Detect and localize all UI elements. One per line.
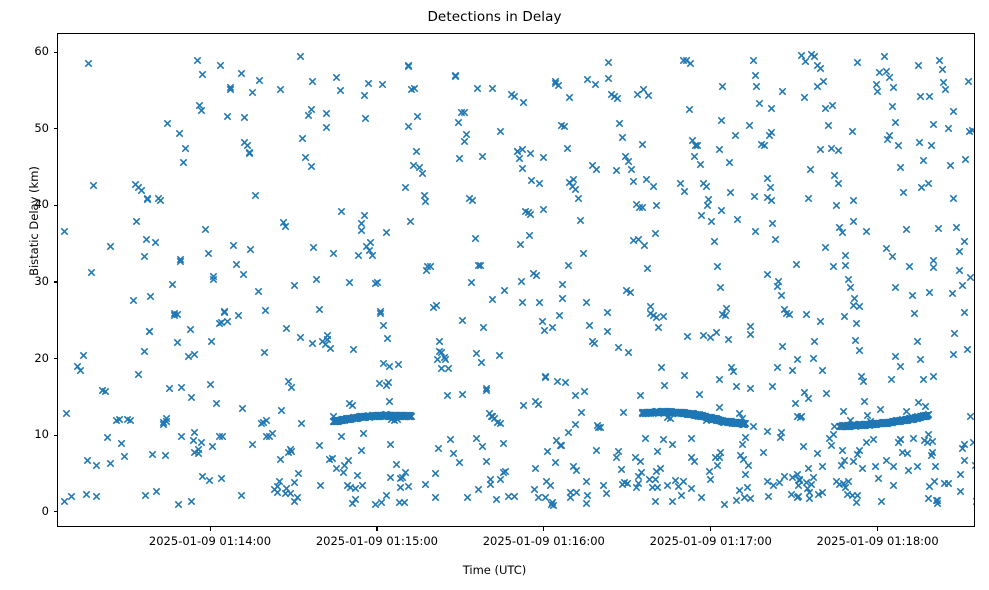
scatter-marker-x	[613, 94, 622, 103]
scatter-marker-x	[969, 438, 975, 447]
scatter-marker-x	[644, 91, 653, 100]
scatter-marker-x	[768, 219, 777, 228]
scatter-marker-x	[187, 393, 196, 402]
scatter-marker-x	[603, 308, 612, 317]
scatter-marker-x	[218, 432, 227, 441]
scatter-marker-x	[366, 238, 375, 247]
scatter-marker-x	[385, 362, 394, 371]
chart-title: Detections in Delay	[0, 9, 989, 25]
scatter-marker-x	[965, 127, 974, 136]
scatter-marker-x	[776, 433, 785, 442]
scatter-marker-x	[435, 337, 444, 346]
scatter-marker-x	[198, 70, 207, 79]
track-marker-x	[741, 419, 750, 428]
x-tick-mark	[877, 527, 878, 531]
scatter-marker-x	[686, 59, 695, 68]
scatter-marker-x	[441, 355, 450, 364]
scatter-marker-x	[713, 461, 722, 470]
scatter-marker-x	[564, 428, 573, 437]
scatter-marker-x	[685, 105, 694, 114]
scatter-marker-x	[500, 286, 509, 295]
scatter-marker-x	[793, 493, 802, 502]
scatter-marker-x	[816, 145, 825, 154]
scatter-marker-x	[307, 105, 316, 114]
scatter-marker-x	[217, 318, 226, 327]
scatter-marker-x	[574, 194, 583, 203]
scatter-marker-x	[577, 408, 586, 417]
scatter-marker-x	[460, 137, 469, 146]
scatter-marker-x	[290, 478, 299, 487]
scatter-marker-x	[683, 332, 692, 341]
scatter-marker-x	[929, 372, 938, 381]
scatter-marker-x	[603, 327, 612, 336]
scatter-marker-x	[106, 459, 115, 468]
scatter-marker-x	[913, 462, 922, 471]
scatter-marker-x	[846, 283, 855, 292]
scatter-marker-x	[357, 446, 366, 455]
scatter-marker-x	[891, 352, 900, 361]
scatter-marker-x	[885, 131, 894, 140]
scatter-marker-x	[79, 351, 88, 360]
scatter-marker-x	[535, 298, 544, 307]
scatter-marker-x	[472, 434, 481, 443]
scatter-marker-x	[240, 113, 249, 122]
scatter-marker-x	[914, 61, 923, 70]
scatter-marker-x	[697, 211, 706, 220]
scatter-marker-x	[555, 311, 564, 320]
scatter-marker-x	[777, 291, 786, 300]
scatter-marker-x	[312, 275, 321, 284]
scatter-marker-x	[804, 194, 813, 203]
scatter-marker-x	[297, 419, 306, 428]
scatter-marker-x	[887, 375, 896, 384]
scatter-marker-x	[888, 102, 897, 111]
scatter-marker-x	[810, 337, 819, 346]
scatter-marker-x	[294, 469, 303, 478]
scatter-marker-x	[751, 71, 760, 80]
scatter-marker-x	[949, 350, 958, 359]
scatter-marker-x	[496, 475, 505, 484]
scatter-marker-x	[741, 470, 750, 479]
scatter-marker-x	[929, 263, 938, 272]
scatter-marker-x	[325, 455, 334, 464]
scatter-marker-x	[510, 492, 519, 501]
scatter-marker-x	[604, 58, 613, 67]
scatter-marker-x	[785, 310, 794, 319]
scatter-marker-x	[208, 442, 217, 451]
scatter-marker-x	[223, 112, 232, 121]
scatter-marker-x	[308, 77, 317, 86]
scatter-marker-x	[248, 88, 257, 97]
scatter-marker-x	[809, 354, 818, 363]
scatter-marker-x	[558, 280, 567, 289]
scatter-marker-x	[832, 201, 841, 210]
scatter-marker-x	[406, 217, 415, 226]
scatter-marker-x	[168, 280, 177, 289]
scatter-marker-x	[749, 422, 758, 431]
scatter-marker-x	[443, 391, 452, 400]
y-tick-mark	[54, 511, 58, 512]
scatter-marker-x	[828, 101, 837, 110]
scatter-marker-x	[197, 106, 206, 115]
scatter-marker-x	[759, 448, 768, 457]
scatter-marker-x	[392, 460, 401, 469]
scatter-marker-x	[821, 243, 830, 252]
scatter-marker-x	[198, 472, 207, 481]
scatter-marker-x	[143, 195, 152, 204]
scatter-marker-x	[952, 223, 961, 232]
scatter-marker-x	[925, 288, 934, 297]
scatter-marker-x	[690, 457, 699, 466]
scatter-marker-x	[60, 497, 69, 506]
scatter-marker-x	[871, 462, 880, 471]
scatter-marker-x	[101, 387, 110, 396]
y-tick-label: 60	[3, 46, 49, 58]
scatter-marker-x	[226, 85, 235, 94]
scatter-marker-x	[899, 188, 908, 197]
scatter-marker-x	[849, 217, 858, 226]
scatter-marker-x	[713, 262, 722, 271]
scatter-marker-x	[660, 381, 669, 390]
scatter-marker-x	[818, 366, 827, 375]
scatter-marker-x	[582, 499, 591, 508]
scatter-marker-x	[908, 291, 917, 300]
scatter-marker-x	[386, 440, 395, 449]
scatter-marker-x	[563, 144, 572, 153]
scatter-marker-x	[197, 438, 206, 447]
scatter-marker-x	[849, 196, 858, 205]
scatter-marker-x	[829, 262, 838, 271]
scatter-marker-x	[560, 122, 569, 131]
scatter-marker-x	[482, 384, 491, 393]
scatter-marker-x	[629, 236, 638, 245]
scatter-marker-x	[876, 405, 885, 414]
scatter-marker-x	[680, 371, 689, 380]
scatter-marker-x	[165, 384, 174, 393]
track-marker-x	[407, 412, 416, 421]
scatter-marker-x	[718, 82, 727, 91]
scatter-marker-x	[765, 131, 774, 140]
scatter-marker-x	[463, 493, 472, 502]
scatter-marker-x	[492, 495, 501, 504]
scatter-marker-x	[401, 183, 410, 192]
scatter-marker-x	[964, 77, 973, 86]
scatter-marker-x	[715, 375, 724, 384]
scatter-marker-x	[706, 475, 715, 484]
scatter-marker-x	[872, 80, 881, 89]
scatter-marker-x	[735, 486, 744, 495]
scatter-marker-x	[478, 152, 487, 161]
scatter-marker-x	[177, 383, 186, 392]
scatter-marker-x	[838, 446, 847, 455]
scatter-marker-x	[614, 343, 623, 352]
scatter-marker-x	[254, 287, 263, 296]
scatter-marker-x	[146, 292, 155, 301]
scatter-marker-x	[92, 492, 101, 501]
x-tick-label: 2025-01-09 01:18:00	[778, 535, 978, 547]
y-tick-mark	[54, 128, 58, 129]
scatter-marker-x	[929, 120, 938, 129]
scatter-marker-x	[409, 161, 418, 170]
scatter-marker-x	[351, 484, 360, 493]
scatter-marker-x	[916, 355, 925, 364]
scatter-marker-x	[282, 324, 291, 333]
scatter-marker-x	[246, 245, 255, 254]
scatter-marker-x	[458, 316, 467, 325]
scatter-marker-x	[361, 114, 370, 123]
scatter-marker-x	[336, 86, 345, 95]
scatter-marker-x	[89, 181, 98, 190]
scatter-marker-x	[472, 349, 481, 358]
scatter-marker-x	[376, 307, 385, 316]
scatter-marker-x	[752, 82, 761, 91]
scatter-marker-x	[410, 84, 419, 93]
scatter-marker-x	[473, 84, 482, 93]
scatter-marker-x	[553, 377, 562, 386]
scatter-marker-x	[961, 155, 970, 164]
scatter-marker-x	[82, 490, 91, 499]
scatter-marker-x	[234, 311, 243, 320]
scatter-marker-x	[915, 138, 924, 147]
scatter-marker-x	[538, 317, 547, 326]
scatter-marker-x	[455, 458, 464, 467]
scatter-marker-x	[763, 270, 772, 279]
scatter-marker-x	[141, 491, 150, 500]
scatter-marker-x	[534, 400, 543, 409]
scatter-marker-x	[316, 481, 325, 490]
scatter-marker-x	[298, 134, 307, 143]
scatter-marker-x	[653, 483, 662, 492]
scatter-marker-x	[315, 305, 324, 314]
scatter-marker-x	[966, 412, 975, 421]
scatter-marker-x	[477, 358, 486, 367]
scatter-marker-x	[261, 306, 270, 315]
scatter-marker-x	[903, 449, 912, 458]
scatter-marker-x	[510, 92, 519, 101]
scatter-marker-x	[927, 141, 936, 150]
scatter-marker-x	[126, 416, 135, 425]
scatter-marker-x	[534, 493, 543, 502]
scatter-marker-x	[308, 339, 317, 348]
scatter-marker-x	[773, 363, 782, 372]
scatter-marker-x	[103, 433, 112, 442]
scatter-marker-x	[804, 394, 813, 403]
scatter-marker-x	[60, 227, 69, 236]
scatter-marker-x	[860, 397, 869, 406]
scatter-marker-x	[583, 75, 592, 84]
scatter-marker-x	[659, 435, 668, 444]
scatter-marker-x	[404, 62, 413, 71]
scatter-plot-area	[58, 34, 974, 526]
scatter-marker-x	[716, 448, 725, 457]
scatter-marker-x	[780, 472, 789, 481]
scatter-marker-x	[496, 127, 505, 136]
scatter-marker-x	[855, 346, 864, 355]
scatter-marker-x	[629, 177, 638, 186]
scatter-marker-x	[824, 121, 833, 130]
scatter-marker-x	[791, 399, 800, 408]
scatter-marker-x	[806, 165, 815, 174]
scatter-marker-x	[802, 310, 811, 319]
y-axis-label: Bistatic Delay (km)	[27, 111, 41, 331]
scatter-marker-x	[526, 210, 535, 219]
scatter-marker-x	[749, 56, 758, 65]
scatter-marker-x	[822, 389, 831, 398]
scatter-marker-x	[801, 57, 810, 66]
scatter-marker-x	[745, 121, 754, 130]
scatter-marker-x	[120, 452, 129, 461]
x-tick-mark	[543, 527, 544, 531]
scatter-marker-x	[862, 438, 871, 447]
scatter-marker-x	[913, 337, 922, 346]
scatter-marker-x	[793, 355, 802, 364]
scatter-marker-x	[717, 206, 726, 215]
track-marker-x	[924, 410, 933, 419]
scatter-marker-x	[368, 251, 377, 260]
scatter-marker-x	[677, 491, 686, 500]
scatter-marker-x	[862, 227, 871, 236]
scatter-marker-x	[838, 228, 847, 237]
scatter-marker-x	[535, 179, 544, 188]
scatter-marker-x	[972, 497, 976, 506]
scatter-marker-x	[679, 477, 688, 486]
scatter-marker-x	[431, 493, 440, 502]
scatter-marker-x	[816, 317, 825, 326]
scatter-marker-x	[618, 480, 627, 489]
scatter-marker-x	[592, 165, 601, 174]
scatter-marker-x	[896, 163, 905, 172]
scatter-marker-x	[731, 131, 740, 140]
scatter-marker-x	[542, 477, 551, 486]
scatter-marker-x	[763, 477, 772, 486]
scatter-marker-x	[619, 408, 628, 417]
scatter-marker-x	[140, 347, 149, 356]
scatter-marker-x	[746, 384, 755, 393]
scatter-marker-x	[813, 449, 822, 458]
scatter-marker-x	[145, 327, 154, 336]
scatter-marker-x	[385, 397, 394, 406]
scatter-marker-x	[733, 215, 742, 224]
scatter-marker-x	[687, 434, 696, 443]
scatter-marker-x	[290, 281, 299, 290]
scatter-marker-x	[612, 453, 621, 462]
scatter-marker-x	[889, 481, 898, 490]
scatter-marker-x	[296, 333, 305, 342]
scatter-marker-x	[896, 362, 905, 371]
scatter-marker-x	[474, 485, 483, 494]
scatter-marker-x	[843, 490, 852, 499]
scatter-marker-x	[351, 495, 360, 504]
scatter-marker-x	[326, 344, 335, 353]
scatter-marker-x	[797, 412, 806, 421]
scatter-marker-x	[548, 323, 557, 332]
scatter-marker-x	[852, 319, 861, 328]
scatter-marker-x	[693, 141, 702, 150]
scatter-marker-x	[680, 187, 689, 196]
scatter-marker-x	[792, 260, 801, 269]
scatter-marker-x	[668, 440, 677, 449]
scatter-marker-x	[212, 399, 221, 408]
scatter-marker-x	[958, 444, 967, 453]
scatter-marker-x	[488, 84, 497, 93]
scatter-marker-x	[348, 401, 357, 410]
scatter-marker-x	[928, 448, 937, 457]
scatter-marker-x	[337, 432, 346, 441]
scatter-marker-x	[839, 407, 848, 416]
scatter-marker-x	[479, 323, 488, 332]
scatter-marker-x	[173, 310, 182, 319]
scatter-marker-x	[551, 77, 560, 86]
scatter-marker-x	[364, 79, 373, 88]
scatter-marker-x	[766, 183, 775, 192]
scatter-marker-x	[858, 464, 867, 473]
scatter-marker-x	[966, 273, 975, 282]
scatter-marker-x	[743, 483, 752, 492]
scatter-marker-x	[850, 294, 859, 303]
scatter-marker-x	[741, 433, 750, 442]
scatter-marker-x	[638, 203, 647, 212]
scatter-marker-x	[767, 196, 776, 205]
x-tick-mark	[210, 527, 211, 531]
scatter-marker-x	[894, 438, 903, 447]
scatter-marker-x	[476, 261, 485, 270]
scatter-marker-x	[638, 140, 647, 149]
scatter-marker-x	[237, 491, 246, 500]
scatter-marker-x	[539, 153, 548, 162]
scatter-marker-x	[888, 252, 897, 261]
scatter-marker-x	[281, 222, 290, 231]
scatter-marker-x	[151, 238, 160, 247]
scatter-marker-x	[400, 498, 409, 507]
scatter-marker-x	[412, 147, 421, 156]
scatter-marker-x	[571, 391, 580, 400]
scatter-marker-x	[715, 145, 724, 154]
scatter-marker-x	[960, 308, 969, 317]
scatter-marker-x	[909, 434, 918, 443]
scatter-marker-x	[458, 390, 467, 399]
scatter-marker-x	[919, 156, 928, 165]
scatter-marker-x	[702, 182, 711, 191]
scatter-marker-x	[488, 295, 497, 304]
scatter-marker-x	[276, 85, 285, 94]
scatter-marker-x	[482, 457, 491, 466]
scatter-marker-x	[750, 192, 759, 201]
scatter-marker-x	[373, 278, 382, 287]
y-tick-mark	[54, 358, 58, 359]
scatter-marker-x	[805, 494, 814, 503]
scatter-marker-x	[345, 278, 354, 287]
scatter-marker-x	[434, 444, 443, 453]
scatter-marker-x	[885, 73, 894, 82]
scatter-marker-x	[451, 72, 460, 81]
y-tick-label: 40	[3, 199, 49, 211]
scatter-marker-x	[844, 477, 853, 486]
scatter-marker-x	[950, 329, 959, 338]
scatter-marker-x	[260, 348, 269, 357]
scatter-marker-x	[590, 339, 599, 348]
scatter-marker-x	[378, 80, 387, 89]
scatter-marker-x	[251, 191, 260, 200]
scatter-marker-x	[275, 477, 284, 486]
scatter-marker-x	[572, 466, 581, 475]
scatter-marker-x	[935, 56, 944, 65]
scatter-marker-x	[703, 201, 712, 210]
scatter-marker-x	[736, 451, 745, 460]
scatter-marker-x	[140, 252, 149, 261]
scatter-marker-x	[394, 360, 403, 369]
scatter-marker-x	[715, 403, 724, 412]
scatter-marker-x	[840, 312, 849, 321]
